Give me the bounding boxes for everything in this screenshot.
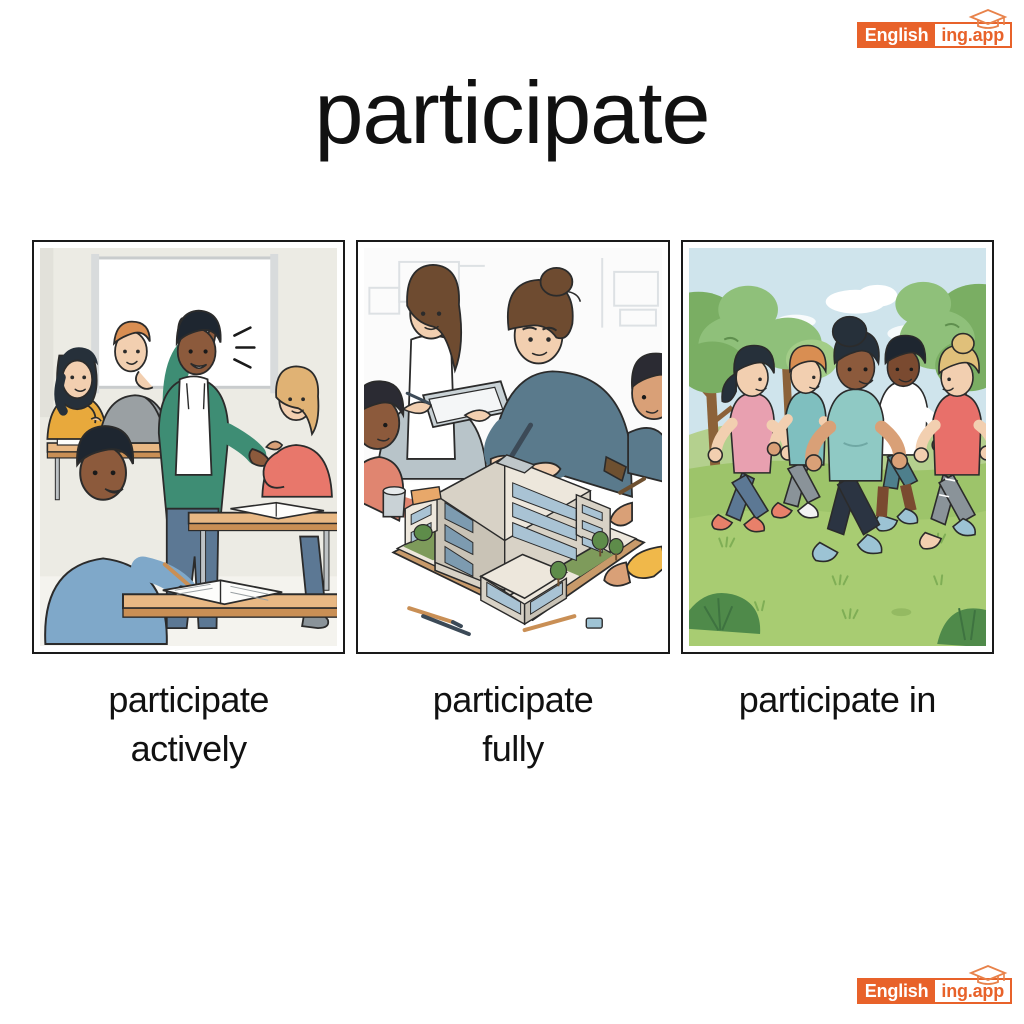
caption-3: participate in [681,676,994,773]
brand-logo-left-text: English [857,22,936,48]
illustration-panel-row [32,240,994,654]
group-jogging-in-park-illustration [689,248,986,646]
illustration-panel-2 [356,240,669,654]
page-title: participate [0,62,1024,164]
illustration-panel-3 [681,240,994,654]
brand-logo-bottom[interactable]: English ing.app [857,978,1012,1004]
caption-2: participate fully [356,676,669,773]
classroom-raised-hand-illustration [40,248,337,646]
brand-logo-left-text: English [857,978,936,1004]
brand-logo-right-text: ing.app [935,22,1012,48]
illustration-panel-1 [32,240,345,654]
caption-1: participate actively [32,676,345,773]
brand-logo-top[interactable]: English ing.app [857,22,1012,48]
caption-row: participate actively participate fully p… [32,676,994,773]
brand-logo-right-text: ing.app [935,978,1012,1004]
team-architectural-model-illustration [364,248,661,646]
